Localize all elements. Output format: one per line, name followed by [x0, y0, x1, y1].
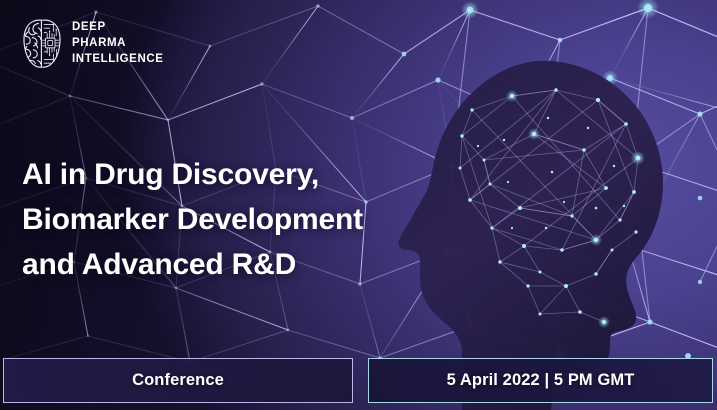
event-title-line-3: and Advanced R&D	[22, 242, 363, 287]
brain-circuit-icon	[22, 16, 62, 70]
event-datetime-badge[interactable]: 5 April 2022 | 5 PM GMT	[368, 358, 713, 403]
brand-logo[interactable]: DEEP PHARMA INTELLIGENCE	[22, 16, 164, 70]
brand-wordmark: DEEP PHARMA INTELLIGENCE	[72, 19, 164, 68]
event-title-line-1: AI in Drug Discovery,	[22, 152, 363, 197]
event-title-line-2: Biomarker Development	[22, 197, 363, 242]
event-banner: DEEP PHARMA INTELLIGENCE AI in Drug Disc…	[0, 0, 717, 410]
brand-line-3: INTELLIGENCE	[72, 51, 164, 67]
event-footer: Conference 5 April 2022 | 5 PM GMT	[0, 354, 717, 410]
event-type-badge[interactable]: Conference	[3, 358, 353, 403]
brand-line-2: PHARMA	[72, 35, 164, 51]
brand-line-1: DEEP	[72, 19, 164, 35]
event-title: AI in Drug Discovery, Biomarker Developm…	[22, 152, 363, 287]
event-datetime-label: 5 April 2022 | 5 PM GMT	[447, 371, 635, 390]
event-type-label: Conference	[132, 371, 224, 390]
